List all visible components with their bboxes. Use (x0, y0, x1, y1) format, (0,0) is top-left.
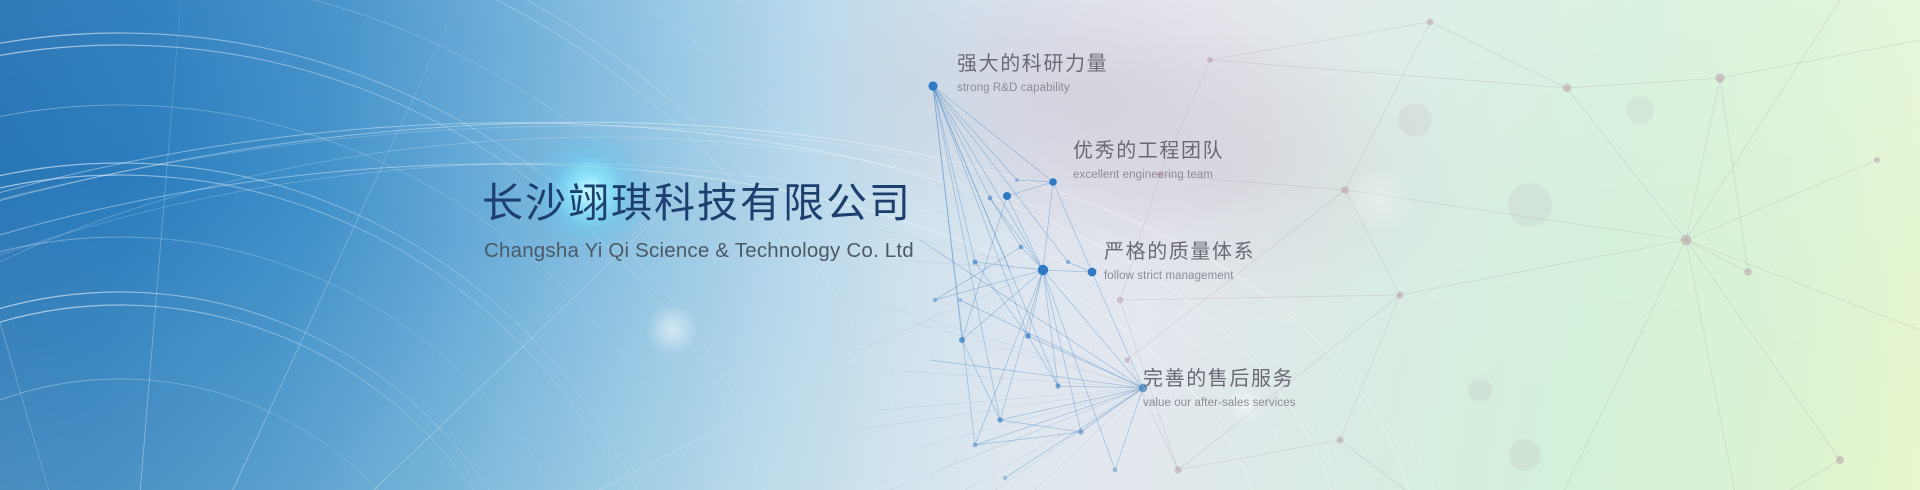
company-name-en: Changsha Yi Qi Science & Technology Co. … (484, 238, 1002, 265)
feature-caption-quality-en: follow strict management (1104, 269, 1255, 284)
feature-caption-service-cn: 完善的售后服务 (1143, 367, 1296, 392)
feature-caption-team-cn: 优秀的工程团队 (1073, 139, 1224, 164)
feature-caption-team-en: excellent engineering team (1073, 168, 1224, 183)
feature-caption-quality: 严格的质量体系 follow strict management (1104, 240, 1255, 284)
company-title-block: 长沙翊琪科技有限公司 Changsha Yi Qi Science & Tech… (482, 178, 1002, 265)
company-name-cn: 长沙翊琪科技有限公司 (482, 178, 1002, 229)
feature-caption-service-en: value our after-sales services (1143, 396, 1296, 411)
feature-caption-quality-cn: 严格的质量体系 (1104, 240, 1255, 265)
feature-caption-rnd-en: strong R&D capability (957, 81, 1108, 96)
hero-banner: 长沙翊琪科技有限公司 Changsha Yi Qi Science & Tech… (0, 0, 1920, 490)
feature-caption-rnd: 强大的科研力量 strong R&D capability (957, 52, 1108, 96)
feature-caption-rnd-cn: 强大的科研力量 (957, 52, 1108, 77)
feature-caption-team: 优秀的工程团队 excellent engineering team (1073, 139, 1224, 183)
feature-caption-service: 完善的售后服务 value our after-sales services (1143, 367, 1296, 411)
